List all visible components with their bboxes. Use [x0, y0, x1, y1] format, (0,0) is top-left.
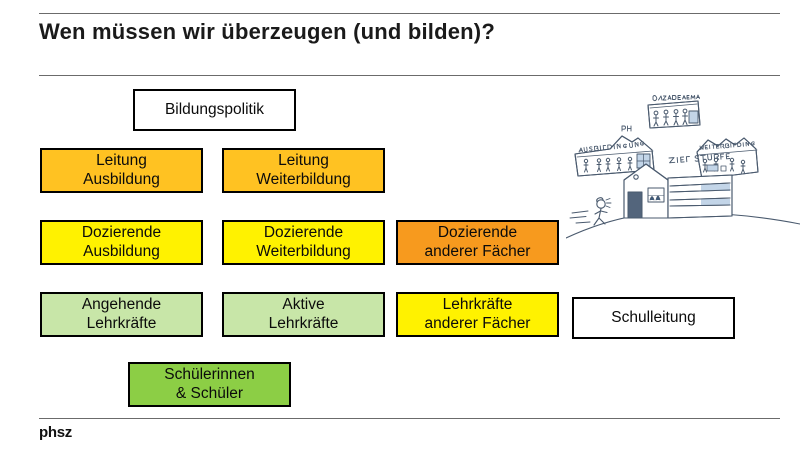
footer-logo: phsz [39, 424, 72, 441]
diagram-box[interactable]: Dozierende Weiterbildung [222, 220, 385, 265]
diagram-box[interactable]: Aktive Lehrkräfte [222, 292, 385, 337]
slide-canvas: Wen müssen wir überzeugen (und bilden)? … [0, 0, 800, 450]
diagram-box[interactable]: Bildungspolitik [133, 89, 296, 131]
page-title: Wen müssen wir überzeugen (und bilden)? [39, 19, 759, 45]
diagram-box[interactable]: Schülerinnen & Schüler [128, 362, 291, 407]
diagram-box[interactable]: Dozierende Ausbildung [40, 220, 203, 265]
diagram-box[interactable]: Angehende Lehrkräfte [40, 292, 203, 337]
header-rule-top [39, 13, 780, 14]
header-rule-bottom [39, 75, 780, 76]
diagram-box[interactable]: Schulleitung [572, 297, 735, 339]
sketch-dozenteam-group [648, 95, 700, 128]
diagram-box[interactable]: Lehrkräfte anderer Fächer [396, 292, 559, 337]
diagram-box[interactable]: Dozierende anderer Fächer [396, 220, 559, 265]
diagram-box[interactable]: Leitung Ausbildung [40, 148, 203, 193]
diagram-box[interactable]: Leitung Weiterbildung [222, 148, 385, 193]
footer-rule [39, 418, 780, 419]
hand-drawn-education-system-sketch [566, 80, 800, 250]
